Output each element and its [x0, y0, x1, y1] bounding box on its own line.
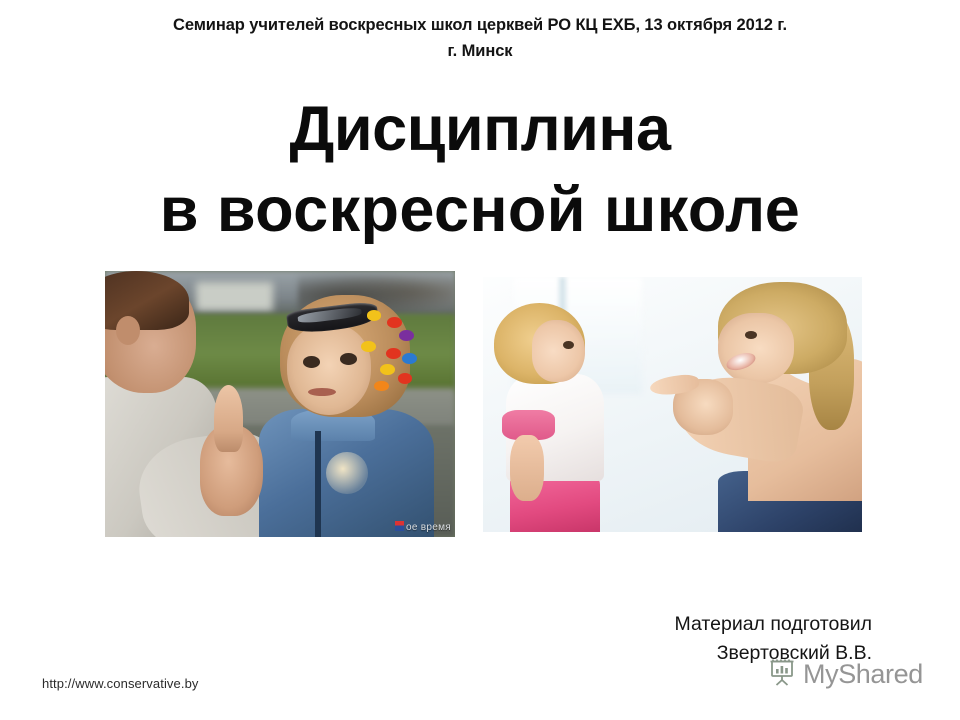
myshared-watermark-text: MyShared [803, 661, 923, 688]
woman-face [718, 313, 794, 384]
girl-mouth [308, 388, 336, 396]
hair-bead-4 [361, 341, 376, 352]
photo-left-watermark-text: ое время [406, 522, 451, 533]
hair-bead-9 [374, 381, 389, 392]
girl-zipper [315, 431, 321, 537]
myshared-watermark: MyShared [768, 657, 923, 692]
photo-mother-scolding-child [483, 277, 862, 532]
hair-bead-6 [402, 353, 417, 364]
child-arm [510, 435, 544, 501]
header-line-2: г. Минск [90, 38, 870, 64]
photo-left-background-strip [196, 282, 273, 311]
hair-bead-1 [367, 310, 382, 321]
photo-left-watermark: ое время [395, 521, 451, 533]
hair-bead-2 [387, 317, 402, 328]
hair-bead-7 [380, 364, 395, 375]
child-face [532, 320, 585, 381]
title-line-1: Дисциплина [0, 91, 960, 167]
page-title: Дисциплина в воскресной школе [0, 91, 960, 253]
watermark-flag-icon [395, 521, 404, 531]
man-pointing-finger [214, 385, 244, 452]
author-line-1: Материал подготовил [452, 610, 872, 639]
slide-header: Семинар учителей воскресных школ церквей… [90, 12, 870, 64]
header-line-1: Семинар учителей воскресных школ церквей… [173, 16, 787, 34]
title-line-2: в воскресной школе [0, 167, 960, 253]
source-url[interactable]: http://www.conservative.by [42, 676, 199, 691]
flipchart-chart-icon [768, 657, 798, 692]
hair-bead-3 [399, 330, 414, 341]
hair-bead-5 [386, 348, 401, 359]
photo-father-scolding-girl: ое время [105, 271, 455, 537]
girl-hair-beads [354, 308, 428, 398]
girl-jacket-print [326, 452, 368, 495]
hair-bead-8 [398, 373, 413, 384]
presentation-slide: Семинар учителей воскресных школ церквей… [0, 0, 960, 720]
